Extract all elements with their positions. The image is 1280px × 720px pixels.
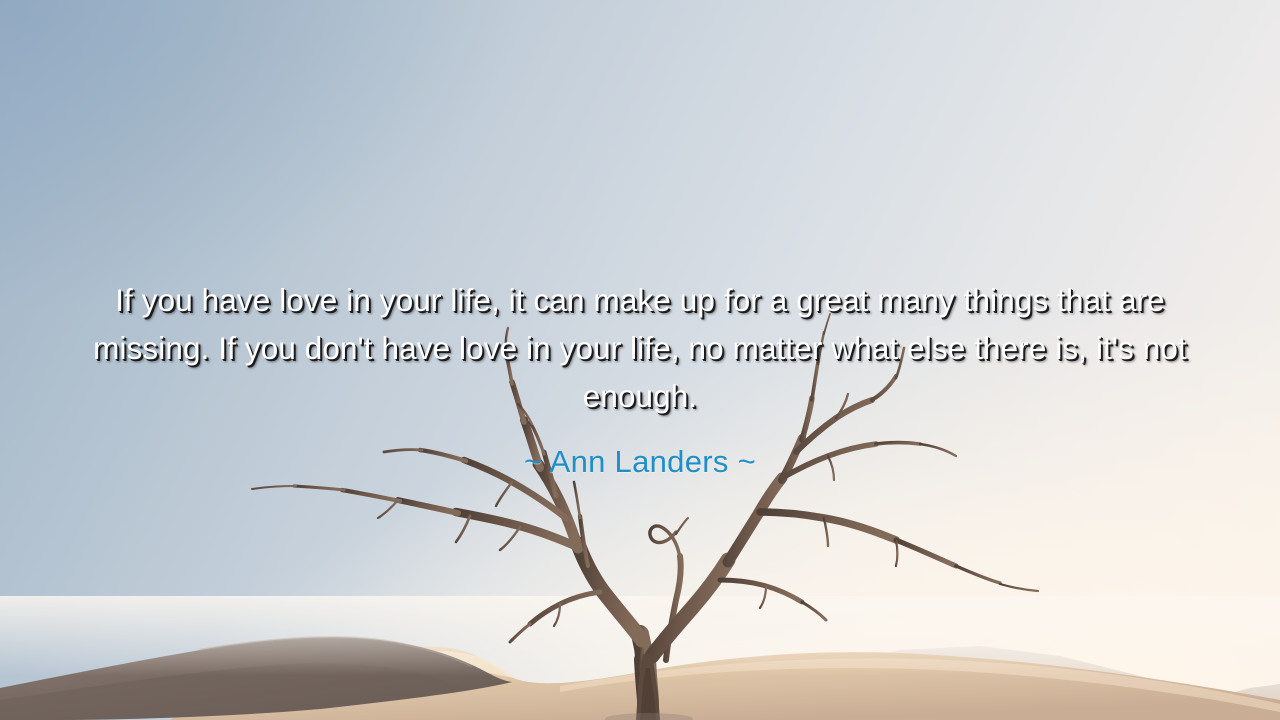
quote-text: If you have love in your life, it can ma… [85, 276, 1195, 420]
quote-image: If you have love in your life, it can ma… [0, 0, 1280, 720]
quote-attribution: ~ Ann Landers ~ [524, 442, 756, 482]
